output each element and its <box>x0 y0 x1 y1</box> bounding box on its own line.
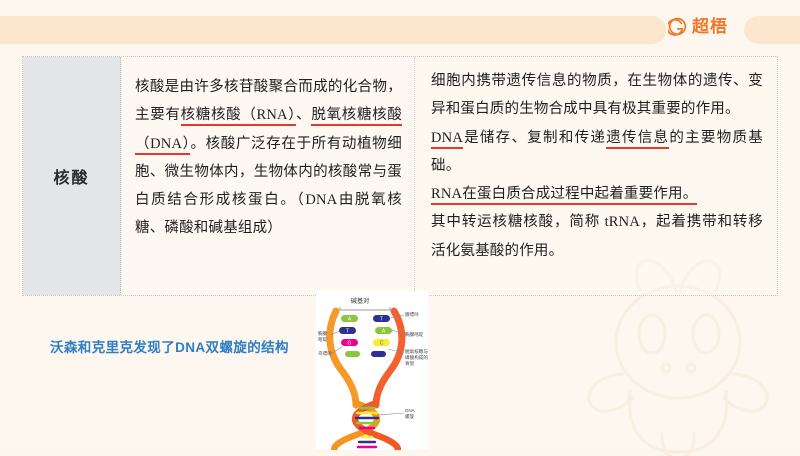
svg-text:C: C <box>380 341 384 347</box>
dna-label-helix-1: DNA <box>405 408 416 413</box>
dna-label-base-pair: 碱基对 <box>351 297 370 305</box>
dna-label-guanine-left: 鸟嘌呤 <box>318 350 332 357</box>
dna-label-backbone-1: 脱氧核糖与 <box>405 348 428 355</box>
slide-page: 超梧 核酸 核酸是由许多核苷酸聚合而成的化合物，主要有核糖核酸（RNA）、脱氧核… <box>0 0 800 450</box>
dna-label-adenine: 腺嘌呤 <box>405 311 419 318</box>
dna-label-helix-2: 螺旋 <box>405 413 415 420</box>
function-p2-seg-2: 是储存、复制和传递 <box>463 130 606 146</box>
content-table: 核酸 核酸是由许多核苷酸聚合而成的化合物，主要有核糖核酸（RNA）、脱氧核糖核酸… <box>22 56 778 296</box>
function-paragraph-3: RNA在蛋白质合成过程中起着重要作用。 <box>431 180 763 208</box>
row-label-text: 核酸 <box>53 164 89 188</box>
function-p3-seg-1-underlined: RNA在蛋白质合成过程中起着重要作用。 <box>431 186 697 205</box>
dna-label-thymine: 胸腺嘧啶 <box>405 331 424 338</box>
table-row-label-cell: 核酸 <box>23 57 121 295</box>
function-p2-seg-3-underlined: 遗传信息 <box>606 130 669 149</box>
figure-caption: 沃森和克里克发现了DNA双螺旋的结构 <box>50 336 289 356</box>
dna-double-helix-figure: 碱基对 A T T A G C <box>316 291 428 450</box>
dna-label-thymine-left-2: 嘧啶 <box>318 336 328 343</box>
definition-seg-3: 、 <box>296 107 311 123</box>
svg-text:T: T <box>380 317 383 323</box>
function-p2-seg-1-underlined: DNA <box>431 130 463 149</box>
function-paragraph-1: 细胞内携带遗传信息的物质，在生物体的遗传、变异和蛋白质的生物合成中具有极其重要的… <box>431 67 763 124</box>
dna-label-backbone-2: 磷酸构成的 <box>405 354 428 361</box>
table-function-cell: 细胞内携带遗传信息的物质，在生物体的遗传、变异和蛋白质的生物合成中具有极其重要的… <box>415 57 777 295</box>
definition-paragraph: 核酸是由许多核苷酸聚合而成的化合物，主要有核糖核酸（RNA）、脱氧核糖核酸（DN… <box>135 73 402 243</box>
function-paragraph-2: DNA是储存、复制和传递遗传信息的主要物质基础。 <box>431 124 763 181</box>
dna-helix-illustration: 碱基对 A T T A G C <box>316 291 428 450</box>
svg-text:T: T <box>346 329 349 335</box>
table-definition-cell: 核酸是由许多核苷酸聚合而成的化合物，主要有核糖核酸（RNA）、脱氧核糖核酸（DN… <box>121 57 415 295</box>
brand-name: 超梧 <box>692 17 728 36</box>
definition-seg-2-underlined: 核糖核酸（RNA） <box>181 107 297 126</box>
svg-text:G: G <box>348 341 352 347</box>
dna-label-thymine-left-1: 胸腺 <box>318 330 328 337</box>
function-paragraph-4: 其中转运核糖核酸，简称 tRNA，起着携带和转移活化氨基酸的作用。 <box>431 208 763 265</box>
g-circle-logo-icon <box>668 17 687 36</box>
header-banner-bar-right <box>744 16 800 44</box>
header-banner-bar <box>0 16 666 44</box>
brand-logo: 超梧 <box>668 17 728 36</box>
